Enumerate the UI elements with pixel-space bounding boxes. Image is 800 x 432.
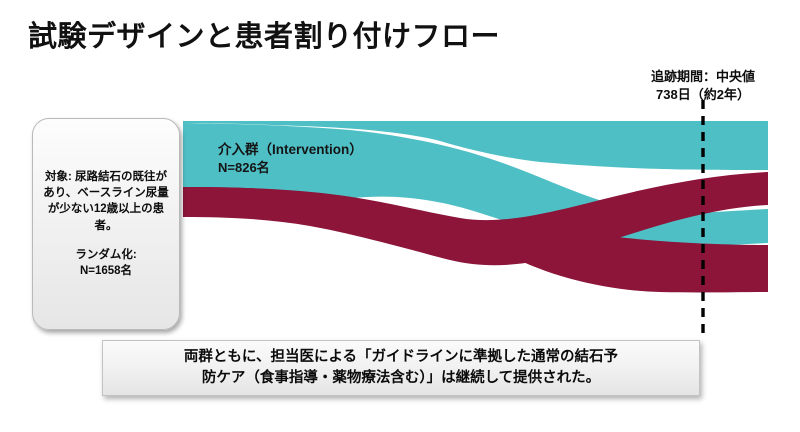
intervention-arm-label: 介入群（Intervention） N=826名 xyxy=(218,141,363,176)
followup-line-2: 738日（約2年） xyxy=(592,86,800,104)
followup-line-1: 追跡期間：中央値 xyxy=(592,68,800,86)
control-arm-name: 対照群（Control） xyxy=(218,247,334,262)
intervention-arm-count: N=826名 xyxy=(218,159,363,176)
entry-criteria-text: 対象: 尿路結石の既往があり、ベースライン尿量が少ない12歳以上の患者。 xyxy=(42,169,170,234)
entry-criteria-box: 対象: 尿路結石の既往があり、ベースライン尿量が少ない12歳以上の患者。 ランダ… xyxy=(32,118,180,330)
caption-text: 両群ともに、担当医による「ガイドラインに準拠した通常の結石予 防ケア（食事指導・… xyxy=(184,347,618,389)
caption-line-1: 両群ともに、担当医による「ガイドラインに準拠した通常の結石予 xyxy=(184,347,618,368)
randomization-label: ランダム化: xyxy=(75,249,136,261)
followup-annotation: 追跡期間：中央値 738日（約2年） xyxy=(592,68,800,104)
caption-line-2: 防ケア（食事指導・薬物療法含む）」は継続して提供された。 xyxy=(184,368,618,389)
control-arm-count: N=832名 xyxy=(218,264,334,281)
control-arm-label: 対照群（Control） N=832名 xyxy=(218,246,334,281)
caption-box: 両群ともに、担当医による「ガイドラインに準拠した通常の結石予 防ケア（食事指導・… xyxy=(102,340,700,396)
randomization-count: N=1658名 xyxy=(80,265,132,277)
intervention-arm-name: 介入群（Intervention） xyxy=(218,142,363,157)
randomization-block: ランダム化: N=1658名 xyxy=(75,247,136,280)
slide-canvas: 試験デザインと患者割り付けフロー 対象: 尿路結石の既往があり、ベースライン尿量… xyxy=(0,0,800,432)
